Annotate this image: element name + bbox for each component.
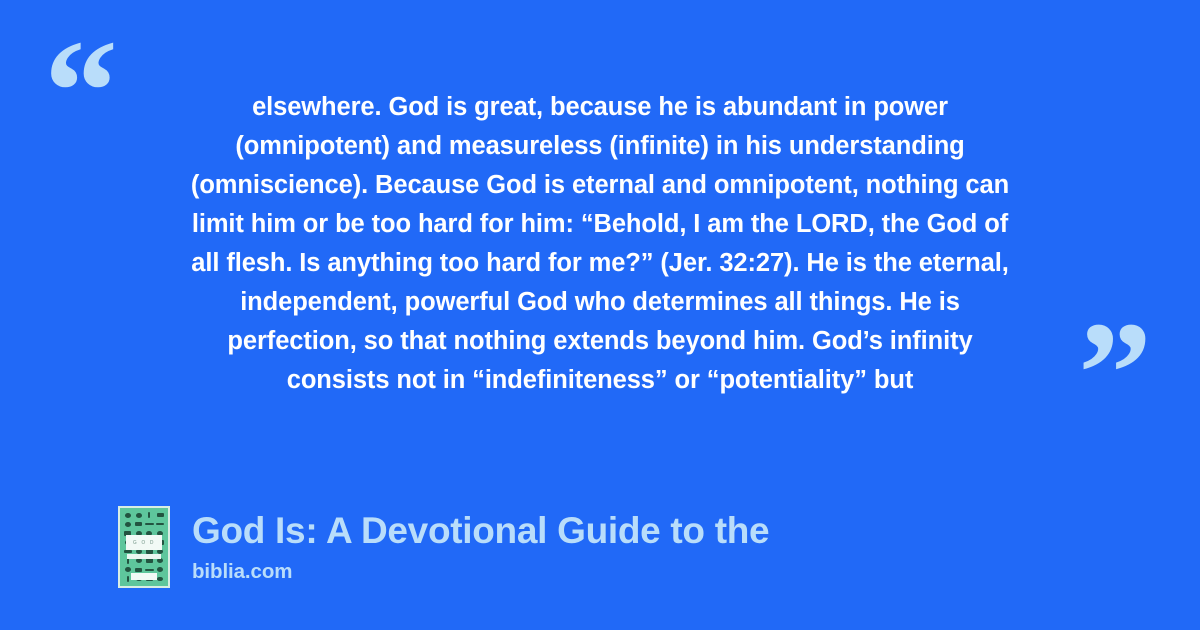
- quote-text: elsewhere. God is great, because he is a…: [100, 88, 1100, 400]
- cover-glyph: [157, 577, 163, 582]
- cover-glyph: [125, 522, 131, 527]
- cover-glyph: [136, 513, 142, 518]
- book-cover-author-bar: [131, 573, 157, 580]
- cover-glyph: [125, 567, 131, 572]
- cover-glyph: [156, 523, 164, 525]
- cover-glyph: [145, 569, 153, 571]
- book-cover-title-label: G O D: [126, 535, 162, 550]
- cover-glyph: [146, 558, 153, 562]
- quote-card: “ elsewhere. God is great, because he is…: [0, 0, 1200, 630]
- footer: G O D God Is: A Devotional Guide to the …: [118, 506, 769, 588]
- cover-glyph: [148, 512, 150, 518]
- cover-glyph: [135, 522, 142, 526]
- cover-glyph: [127, 576, 129, 582]
- cover-glyph: [157, 513, 164, 517]
- book-title[interactable]: God Is: A Devotional Guide to the: [192, 509, 769, 553]
- cover-glyph: [157, 567, 163, 572]
- cover-glyph: [124, 550, 132, 552]
- book-cover-thumbnail[interactable]: G O D: [118, 506, 170, 588]
- book-cover-subtitle-bar: [127, 554, 161, 559]
- closing-quote-icon: ”: [1078, 300, 1152, 448]
- site-url[interactable]: biblia.com: [192, 559, 769, 585]
- cover-glyph: [125, 513, 131, 518]
- cover-glyph: [145, 523, 153, 525]
- footer-text-block: God Is: A Devotional Guide to the biblia…: [192, 509, 769, 585]
- cover-glyph: [135, 568, 142, 572]
